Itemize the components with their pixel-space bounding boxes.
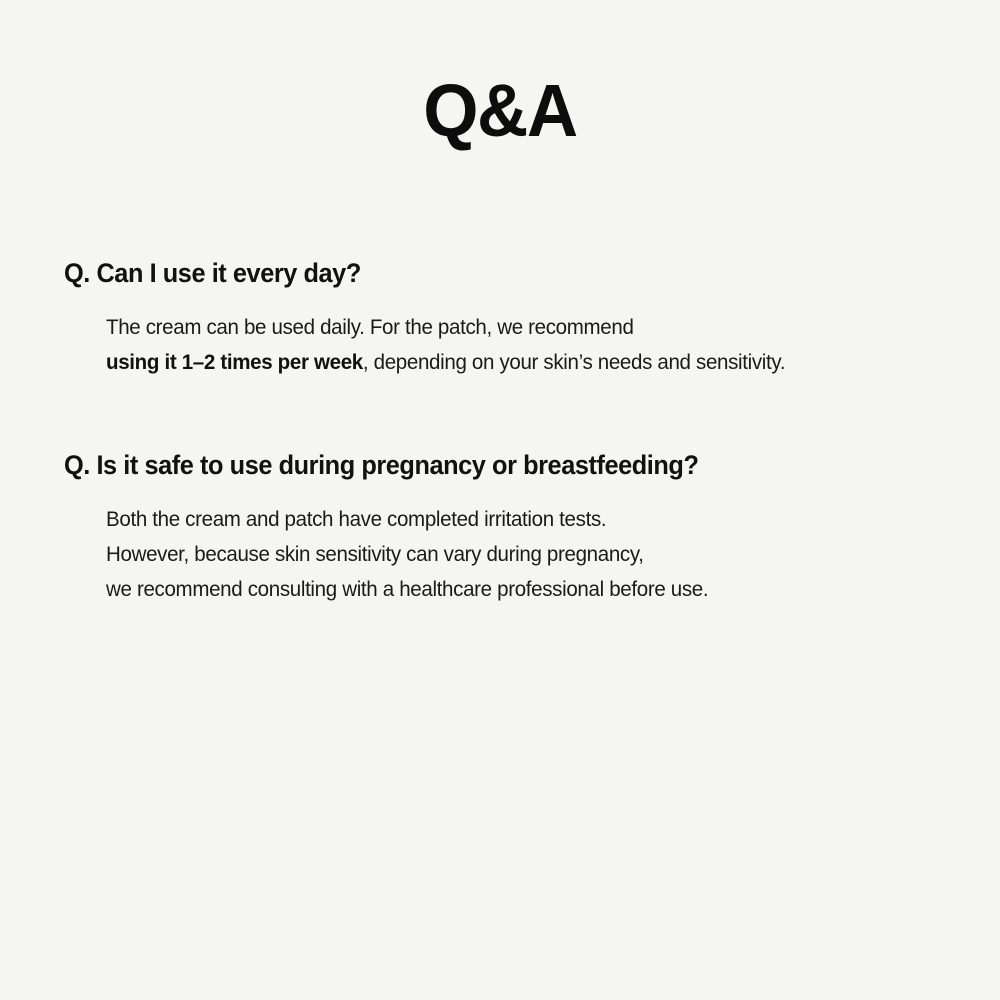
qa-list: Q. Can I use it every day?The cream can …: [64, 258, 964, 607]
qa-block: Q. Can I use it every day?The cream can …: [64, 258, 964, 380]
qa-page: Q&A Q. Can I use it every day?The cream …: [0, 0, 1000, 1000]
question-heading: Q. Is it safe to use during pregnancy or…: [64, 450, 924, 480]
answer-emphasis: using it 1–2 times per week: [106, 350, 363, 374]
answer-line: Both the cream and patch have completed …: [106, 502, 925, 537]
answer-span: we recommend consulting with a healthcar…: [106, 577, 708, 601]
answer-line: we recommend consulting with a healthcar…: [106, 572, 925, 607]
answer-span: The cream can be used daily. For the pat…: [106, 315, 634, 339]
answer-line: However, because skin sensitivity can va…: [106, 537, 925, 572]
answer-text: The cream can be used daily. For the pat…: [106, 310, 925, 380]
qa-block: Q. Is it safe to use during pregnancy or…: [64, 450, 964, 607]
answer-span: However, because skin sensitivity can va…: [106, 542, 644, 566]
answer-line: The cream can be used daily. For the pat…: [106, 310, 925, 345]
answer-line: using it 1–2 times per week, depending o…: [106, 345, 925, 380]
page-title: Q&A: [20, 74, 980, 148]
answer-span: , depending on your skin’s needs and sen…: [363, 350, 785, 374]
question-heading: Q. Can I use it every day?: [64, 258, 924, 288]
answer-span: Both the cream and patch have completed …: [106, 507, 606, 531]
answer-text: Both the cream and patch have completed …: [106, 502, 925, 607]
